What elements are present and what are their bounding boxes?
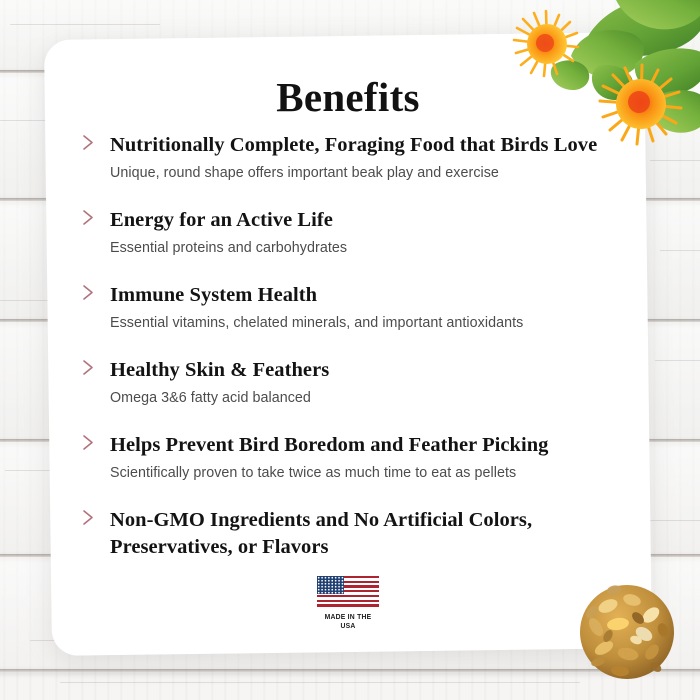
benefit-subtitle: Scientifically proven to take twice as m… <box>110 462 624 484</box>
list-item: Non-GMO Ingredients and No Artificial Co… <box>81 507 624 561</box>
benefit-subtitle: Essential proteins and carbohydrates <box>110 237 624 259</box>
chevron-right-icon <box>81 283 97 302</box>
benefit-subtitle: Essential vitamins, chelated minerals, a… <box>110 312 624 334</box>
chevron-right-icon <box>81 358 97 377</box>
benefit-title: Energy for an Active Life <box>110 207 624 234</box>
benefit-subtitle: Omega 3&6 fatty acid balanced <box>110 387 624 409</box>
product-benefits-graphic: Benefits Nutritionally Complete, Foragin… <box>0 0 700 700</box>
chevron-right-icon <box>81 508 97 527</box>
benefits-list: Nutritionally Complete, Foraging Food th… <box>81 132 624 561</box>
benefits-card: Benefits Nutritionally Complete, Foragin… <box>44 32 652 656</box>
made-in-usa-badge: MADE IN THE USA <box>317 576 379 630</box>
chevron-right-icon <box>81 133 97 152</box>
made-in-usa-label: MADE IN THE USA <box>319 612 376 630</box>
list-item: Healthy Skin & Feathers Omega 3&6 fatty … <box>81 357 624 409</box>
benefit-title: Non-GMO Ingredients and No Artificial Co… <box>110 507 580 561</box>
chevron-right-icon <box>81 208 97 227</box>
benefit-title: Nutritionally Complete, Foraging Food th… <box>110 132 624 159</box>
chevron-right-icon <box>81 433 97 452</box>
benefit-subtitle: Unique, round shape offers important bea… <box>110 162 624 184</box>
flag-canton <box>317 576 344 594</box>
usa-flag-icon <box>317 576 379 609</box>
benefit-title: Helps Prevent Bird Boredom and Feather P… <box>110 432 624 459</box>
list-item: Helps Prevent Bird Boredom and Feather P… <box>81 432 624 484</box>
benefit-title: Healthy Skin & Feathers <box>110 357 624 384</box>
list-item: Immune System Health Essential vitamins,… <box>81 282 624 334</box>
list-item: Energy for an Active Life Essential prot… <box>81 207 624 259</box>
benefit-title: Immune System Health <box>110 282 624 309</box>
list-item: Nutritionally Complete, Foraging Food th… <box>81 132 624 184</box>
page-title: Benefits <box>48 73 648 121</box>
